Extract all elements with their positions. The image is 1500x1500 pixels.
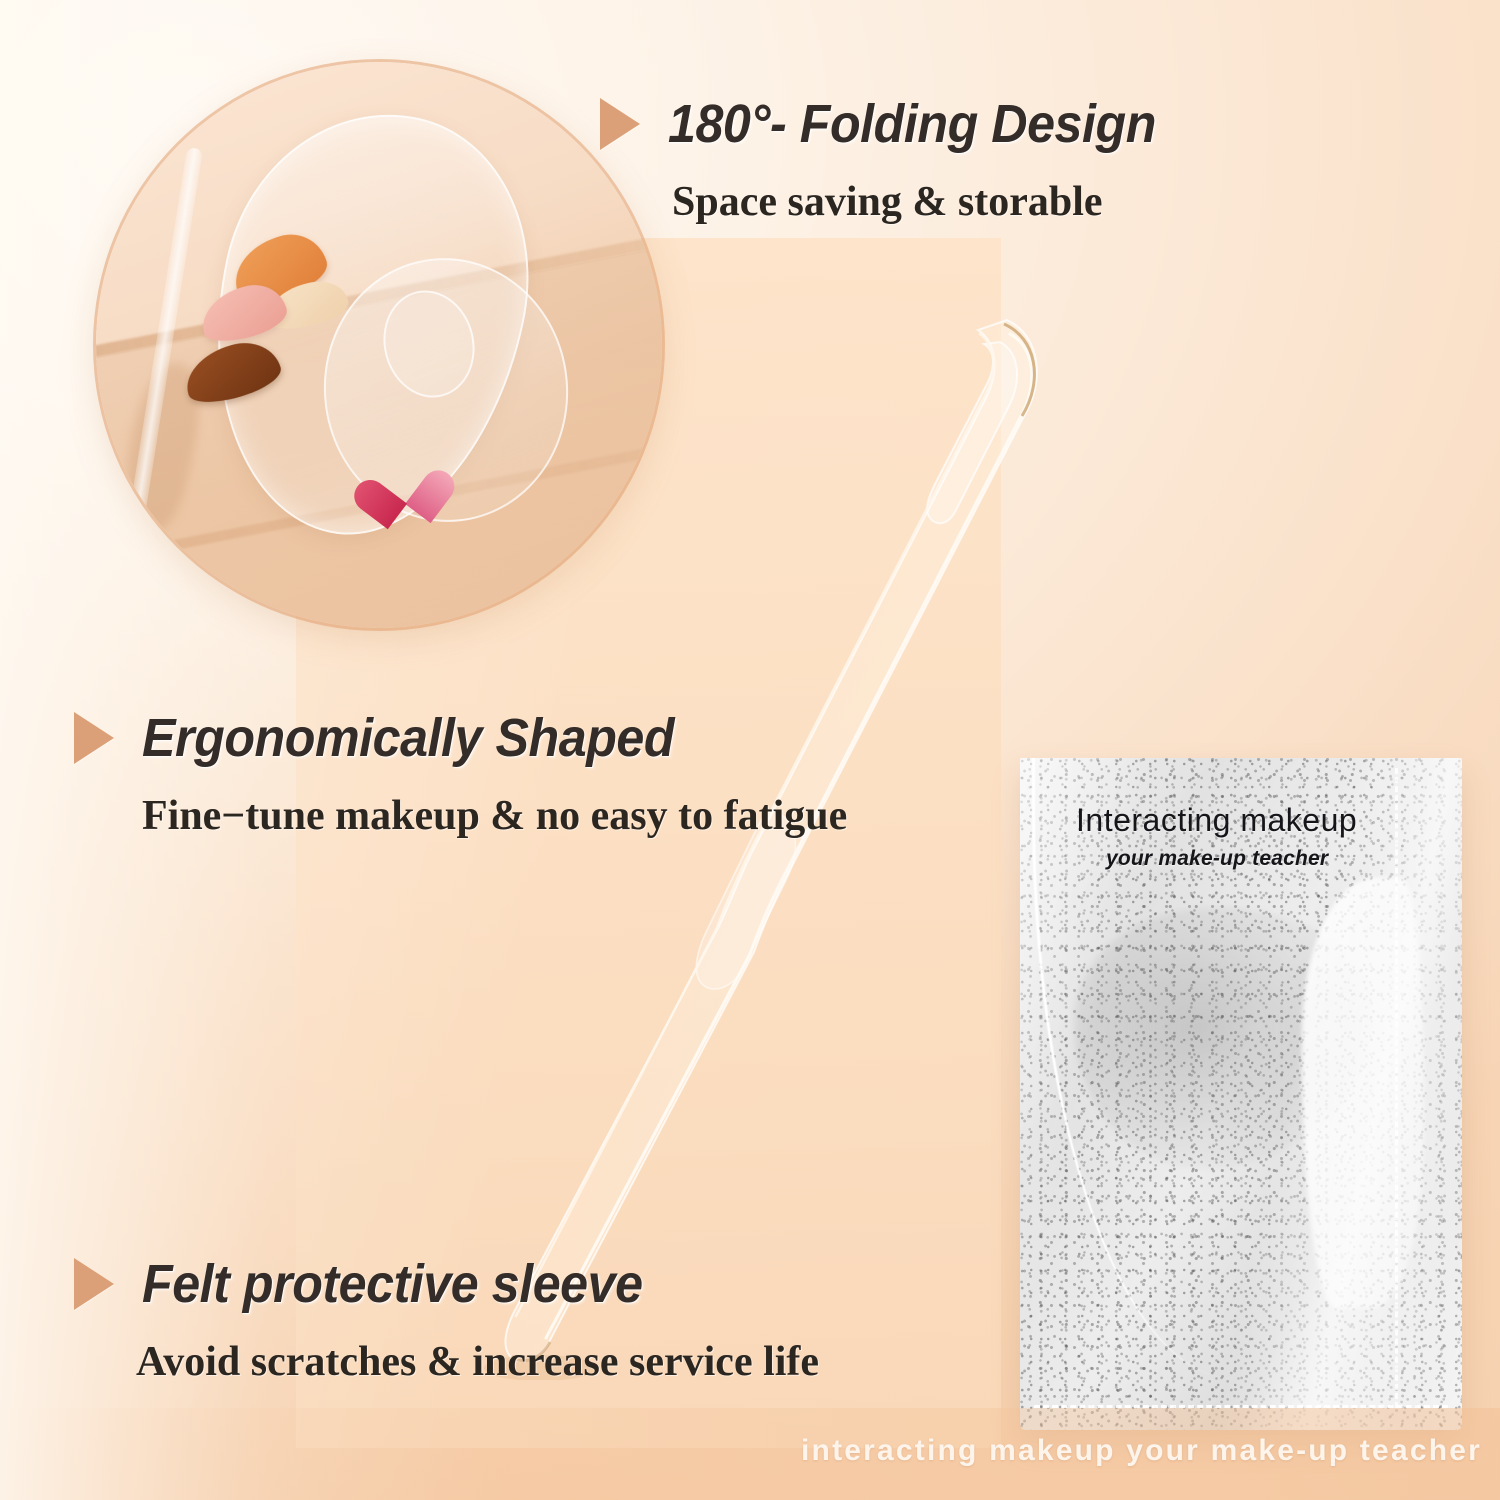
feature-folding-design: 180°- Folding Design Space saving & stor… [600, 96, 1193, 226]
product-circle-inset [96, 62, 662, 628]
pouch-tagline: your make-up teacher [1106, 847, 1438, 871]
brand-watermark: interacting makeup your make-up teacher [801, 1434, 1500, 1474]
feature-ergonomic-shape: Ergonomically Shaped Fine−tune makeup & … [74, 710, 847, 840]
feature-subtitle: Space saving & storable [672, 178, 1193, 226]
lipstick-heart-shape [368, 450, 437, 514]
pouch-branding: Interacting makeup your make-up teacher [1076, 802, 1438, 871]
feature-title: Felt protective sleeve [142, 1256, 643, 1312]
feature-felt-sleeve: Felt protective sleeve Avoid scratches &… [74, 1256, 819, 1386]
feature-title-row: Ergonomically Shaped [74, 710, 847, 766]
feature-title-row: Felt protective sleeve [74, 1256, 819, 1312]
infographic-canvas: Interacting makeup your make-up teacher … [0, 0, 1500, 1500]
triangle-right-icon [74, 1258, 114, 1310]
feature-title: 180°- Folding Design [668, 96, 1156, 152]
triangle-right-icon [600, 98, 640, 150]
feature-subtitle: Fine−tune makeup & no easy to fatigue [142, 792, 847, 840]
pouch-brand-name: Interacting makeup [1076, 802, 1438, 839]
feature-title-row: 180°- Folding Design [600, 96, 1193, 152]
feature-title: Ergonomically Shaped [142, 710, 674, 766]
felt-pouch-photo: Interacting makeup your make-up teacher [1020, 758, 1462, 1430]
triangle-right-icon [74, 712, 114, 764]
footer-bar: interacting makeup your make-up teacher [0, 1408, 1500, 1500]
feature-subtitle: Avoid scratches & increase service life [136, 1338, 819, 1386]
